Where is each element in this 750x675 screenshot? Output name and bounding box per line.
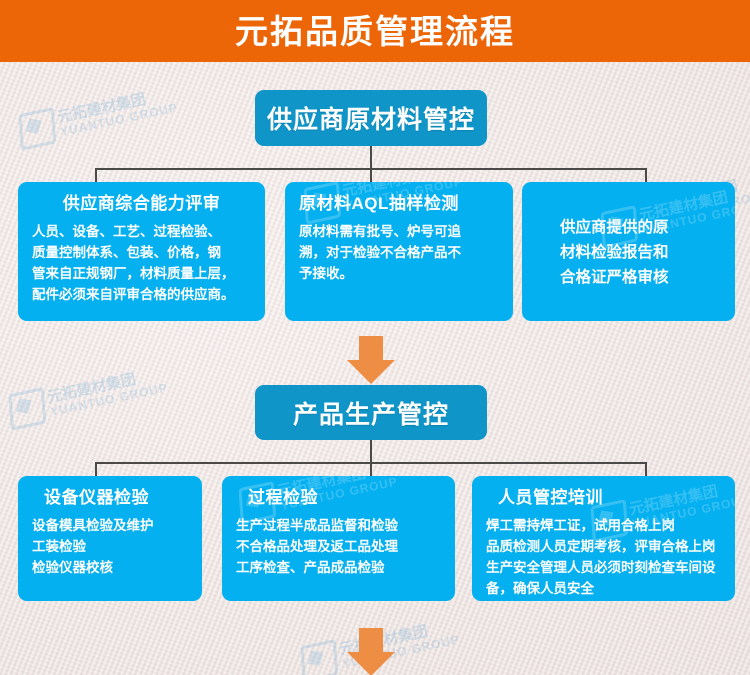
card-body-line: 原材料需有批号、炉号可追 <box>299 222 499 243</box>
card-body-line: 设备模具检验及维护 <box>32 516 188 537</box>
card-title: 原材料AQL抽样检测 <box>299 194 499 214</box>
watermark-en-text: YUANTUO GROUP <box>59 101 179 138</box>
card-body-line: 不合格品处理及返工品处理 <box>236 537 441 558</box>
connector-stage1-drop-mid <box>370 168 372 182</box>
flowchart-page: 元拓品质管理流程 元拓建材集团 YUANTUO GROUP 元拓建材集团 YUA… <box>0 0 750 675</box>
page-title: 元拓品质管理流程 <box>235 15 515 48</box>
connector-stage1-drop-right <box>645 168 647 182</box>
watermark-logo-icon <box>8 387 46 431</box>
card-supplier-inspection-report[interactable]: 供应商提供的原 材料检验报告和 合格证严格审核 元拓建材集团 YUANTUO G… <box>522 182 735 321</box>
card-title: 设备仪器检验 <box>32 488 188 508</box>
watermark-logo-icon <box>300 639 338 675</box>
watermark-cn-text: 元拓建材集团 <box>56 86 176 126</box>
card-body-line: 供应商提供的原 <box>560 215 669 240</box>
card-title: 人员管控培训 <box>486 488 721 508</box>
card-body-line: 品质检测人员定期考核，评审合格上岗 <box>486 537 721 558</box>
connector-stage2-drop-left <box>95 462 97 476</box>
card-equipment-instrument-inspection[interactable]: 设备仪器检验 设备模具检验及维护 工装检验 检验仪器校核 <box>18 476 202 601</box>
connector-stage2-drop-mid <box>370 462 372 476</box>
card-body: 供应商提供的原 材料检验报告和 合格证严格审核 <box>536 215 669 290</box>
card-body: 焊工需持焊工证，试用合格上岗 品质检测人员定期考核，评审合格上岗 生产安全管理人… <box>486 516 721 600</box>
connector-stage2-drop-right <box>645 462 647 476</box>
card-body: 人员、设备、工艺、过程检验、 质量控制体系、包装、价格，钢 管来自正规钢厂，材料… <box>32 222 251 306</box>
card-body-line: 质量控制体系、包装、价格，钢 <box>32 243 251 264</box>
watermark-cn-text: 元拓建材集团 <box>46 366 166 406</box>
card-body-line: 检验仪器校核 <box>32 558 188 579</box>
card-body-line: 生产安全管理人员必须时刻检查车间设 <box>486 558 721 579</box>
stage1-title: 供应商原材料管控 <box>267 100 475 136</box>
card-body-line: 溯，对于检验不合格产品不 <box>299 243 499 264</box>
card-title: 过程检验 <box>236 488 441 508</box>
card-body: 原材料需有批号、炉号可追 溯，对于检验不合格产品不 予接收。 <box>299 222 499 285</box>
header-bar: 元拓品质管理流程 <box>0 0 750 62</box>
stage2-header-box[interactable]: 产品生产管控 <box>255 385 487 440</box>
card-body-line: 人员、设备、工艺、过程检验、 <box>32 222 251 243</box>
watermark: 元拓建材集团 YUANTUO GROUP <box>16 82 180 150</box>
card-raw-material-aql-sampling[interactable]: 原材料AQL抽样检测 原材料需有批号、炉号可追 溯，对于检验不合格产品不 予接收… <box>285 182 513 321</box>
card-body: 设备模具检验及维护 工装检验 检验仪器校核 <box>32 516 188 579</box>
card-process-inspection[interactable]: 过程检验 生产过程半成品监督和检验 不合格品处理及返工品处理 工序检查、产品成品… <box>222 476 455 601</box>
card-supplier-capability-review[interactable]: 供应商综合能力评审 人员、设备、工艺、过程检验、 质量控制体系、包装、价格，钢 … <box>18 182 265 321</box>
watermark-en-text: YUANTUO GROUP <box>49 381 169 418</box>
card-body: 生产过程半成品监督和检验 不合格品处理及返工品处理 工序检查、产品成品检验 <box>236 516 441 579</box>
card-body-line: 备，确保人员安全 <box>486 579 721 600</box>
card-body-line: 工装检验 <box>32 537 188 558</box>
stage2-title: 产品生产管控 <box>293 395 449 431</box>
stage1-header-box[interactable]: 供应商原材料管控 <box>255 90 487 146</box>
connector-stage1-drop-left <box>95 168 97 182</box>
card-body-line: 材料检验报告和 <box>560 240 669 265</box>
card-body-line: 合格证严格审核 <box>560 265 669 290</box>
card-title: 供应商综合能力评审 <box>32 194 251 214</box>
card-body-line: 工序检查、产品成品检验 <box>236 558 441 579</box>
card-body-line: 管来自正规钢厂，材料质量上层， <box>32 264 251 285</box>
card-body-line: 生产过程半成品监督和检验 <box>236 516 441 537</box>
watermark: 元拓建材集团 YUANTUO GROUP <box>6 362 170 430</box>
arrow-stage2-to-next-icon <box>347 628 395 675</box>
watermark-logo-icon <box>18 107 56 151</box>
card-personnel-management-training[interactable]: 人员管控培训 焊工需持焊工证，试用合格上岗 品质检测人员定期考核，评审合格上岗 … <box>472 476 735 601</box>
card-body-line: 予接收。 <box>299 264 499 285</box>
card-body-line: 配件必须来自评审合格的供应商。 <box>32 285 251 306</box>
arrow-stage1-to-stage2-icon <box>347 336 395 384</box>
card-body-line: 焊工需持焊工证，试用合格上岗 <box>486 516 721 537</box>
